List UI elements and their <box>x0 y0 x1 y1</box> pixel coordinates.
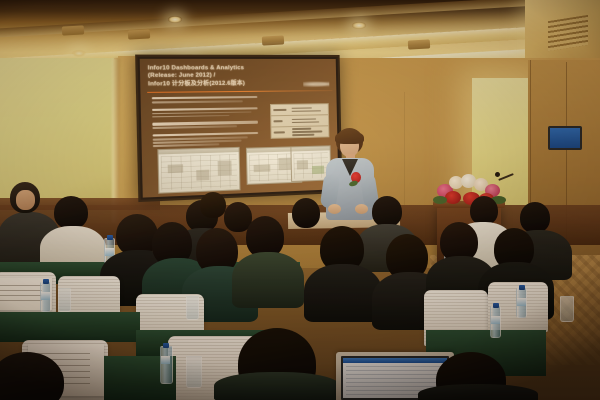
downlight-1 <box>168 16 182 23</box>
bottle-cap <box>519 285 525 290</box>
ceiling-slot-3 <box>262 35 284 45</box>
flower-arrangement <box>433 172 507 206</box>
slide-screenshot-left <box>157 147 240 194</box>
attendee-head <box>292 198 320 228</box>
bottle-cap <box>107 235 113 240</box>
conference-room-photo: Infor10 Dashboards & Analytics (Release:… <box>0 0 600 400</box>
water-bottle[interactable] <box>40 282 51 312</box>
slide-bullet-list <box>152 96 259 152</box>
bottle-label <box>517 298 526 306</box>
slide-table-cell-label <box>271 119 292 123</box>
attendee-shoulders <box>304 264 382 322</box>
slide-bullet-1 <box>152 96 258 103</box>
infor-logo-icon <box>303 81 329 87</box>
drinking-glass[interactable] <box>58 288 71 312</box>
presentation-slide: Infor10 Dashboards & Analytics (Release:… <box>140 59 339 198</box>
downlight-3 <box>72 50 86 57</box>
water-bottle[interactable] <box>516 288 527 318</box>
laptop-background-screen <box>550 128 580 148</box>
attendee-face <box>16 190 35 210</box>
screenshot-block <box>168 164 184 173</box>
projection-screen: Infor10 Dashboards & Analytics (Release:… <box>135 55 342 203</box>
slide-table-cell-label <box>272 130 293 134</box>
ceiling-slot-1 <box>62 25 84 35</box>
screenshot-block <box>218 161 232 176</box>
attendee-head <box>470 196 498 225</box>
room-background: Infor10 Dashboards & Analytics (Release:… <box>0 0 600 400</box>
presenter <box>318 128 380 220</box>
drinking-glass[interactable] <box>186 296 199 320</box>
bottle-cap <box>493 303 499 308</box>
attendee-shoulders-foreground <box>214 372 340 400</box>
presenter-hand-right <box>355 204 368 214</box>
attendee-shoulders-foreground <box>418 384 538 400</box>
foliage-left <box>433 196 447 204</box>
screenshot-block <box>254 164 271 172</box>
ceiling-grille-right <box>548 15 588 51</box>
bottle-label <box>41 292 50 300</box>
drinking-glass[interactable] <box>560 296 574 322</box>
attendee-head <box>200 192 226 218</box>
presenter-hand-left <box>328 204 341 214</box>
laptop-window-titlebar <box>343 358 447 363</box>
ceiling-slot-4 <box>408 39 430 49</box>
wall-seam-3 <box>404 92 405 212</box>
flower-red-1 <box>445 191 461 204</box>
slide-table-cell-label <box>271 108 292 112</box>
slide-table-cell-value <box>292 117 328 124</box>
bottle-label <box>161 356 170 364</box>
bottle-cap <box>43 279 49 284</box>
slide-accent-rule <box>147 90 332 93</box>
laptop-background[interactable] <box>548 126 582 150</box>
water-bottle[interactable] <box>490 306 501 338</box>
downlight-2 <box>352 22 366 29</box>
attendee-head <box>372 196 402 227</box>
screenshot-header <box>158 148 238 155</box>
banquet-table-row2-left <box>0 312 140 342</box>
ceiling-slot-2 <box>128 29 150 39</box>
bottle-cap <box>163 343 169 348</box>
water-bottle[interactable] <box>160 346 173 384</box>
slide-bullet-4 <box>153 132 259 147</box>
attendee-head <box>520 202 550 233</box>
bottle-label <box>491 316 500 324</box>
slide-bullet-3 <box>152 121 258 129</box>
slide-table-cell-value <box>292 106 328 113</box>
screenshot-block <box>196 170 209 181</box>
drinking-glass[interactable] <box>186 356 202 388</box>
presenter-fringe <box>335 131 364 144</box>
slide-bullet-2 <box>152 107 258 118</box>
attendee-head <box>54 196 88 229</box>
screenshot-block <box>297 160 308 169</box>
attendee-shoulders <box>232 252 304 308</box>
